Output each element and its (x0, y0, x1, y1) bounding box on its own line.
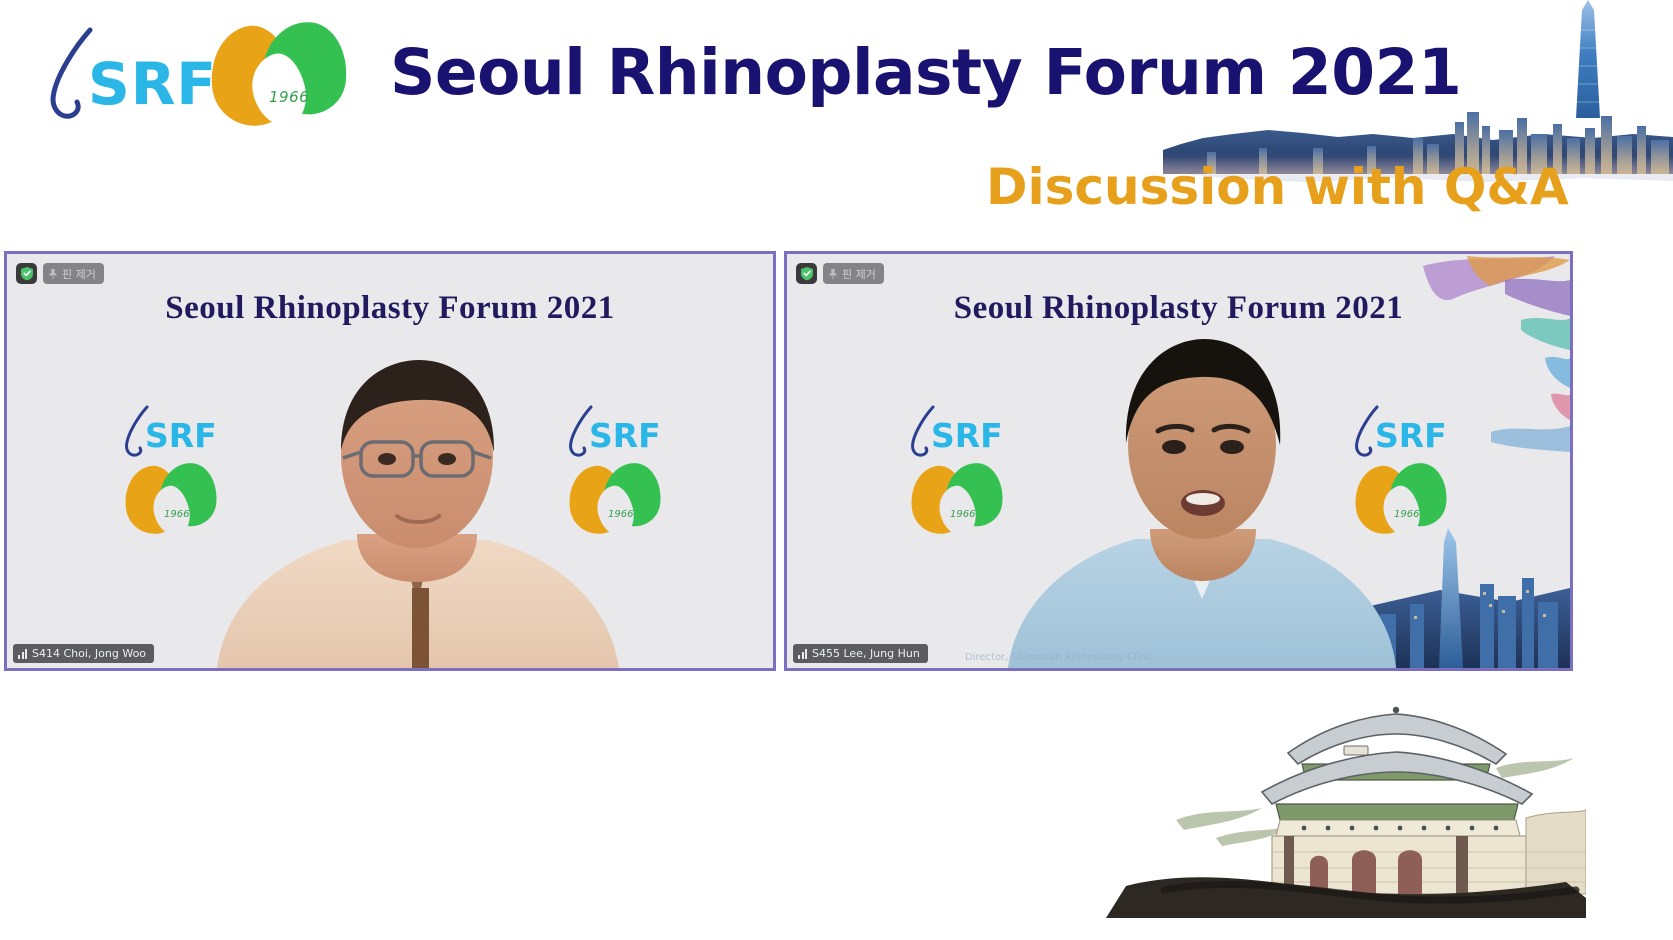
encryption-shield-icon[interactable] (796, 263, 817, 284)
virtual-background-title-1: Seoul Rhinoplasty Forum 2021 (7, 290, 773, 327)
unpin-label-1: 핀 제거 (62, 266, 96, 282)
virtual-bg-heart: 1966 (125, 462, 217, 538)
slide-header: SRF 1966 Seoul Rhinoplasty Forum 2021 (0, 0, 1673, 252)
participant-name-1: S414 Choi, Jong Woo (32, 647, 146, 660)
signal-strength-icon (18, 649, 27, 659)
tile-badges-2[interactable]: 핀 제거 (796, 263, 884, 284)
participant-name-tag-2: S455 Lee, Jung Hun (793, 644, 928, 663)
tile-badges-1[interactable]: 핀 제거 (16, 263, 104, 284)
presentation-slide: SRF 1966 Seoul Rhinoplasty Forum 2021 (0, 0, 1673, 940)
participant-name-tag-1: S414 Choi, Jong Woo (13, 644, 154, 663)
video-tile-participant-1[interactable]: Seoul Rhinoplasty Forum 2021 SRF 1966 SR… (4, 251, 776, 671)
unpin-button-2[interactable]: 핀 제거 (823, 263, 884, 284)
srf-logo-wordmark: SRF (88, 50, 217, 118)
virtual-bg-heart: 1966 (911, 462, 1003, 538)
virtual-background-title-2: Seoul Rhinoplasty Forum 2021 (787, 290, 1570, 327)
unpin-label-2: 핀 제거 (842, 266, 876, 282)
video-tile-participant-2[interactable]: Seoul Rhinoplasty Forum 2021 SRF 1966 SR… (784, 251, 1573, 671)
virtual-bg-srf-word: SRF (145, 416, 217, 455)
virtual-bg-year: 1966 (164, 509, 189, 520)
gwanghwamun-illustration (1066, 668, 1586, 918)
encryption-shield-icon[interactable] (16, 263, 37, 284)
srf-logo-year: 1966 (269, 88, 309, 106)
virtual-bg-srf-word: SRF (931, 416, 1003, 455)
pin-icon (48, 268, 58, 280)
participant-name-2: S455 Lee, Jung Hun (812, 647, 920, 660)
participant-host-note-2: Director, Shimmian Rhinoplasty Clinic (965, 652, 1154, 663)
page-title: Seoul Rhinoplasty Forum 2021 (390, 36, 1461, 109)
unpin-button-1[interactable]: 핀 제거 (43, 263, 104, 284)
participant-video-image-2 (1002, 323, 1402, 668)
signal-strength-icon (798, 649, 807, 659)
slide-subtitle: Discussion with Q&A (986, 158, 1569, 216)
srf-logo: SRF 1966 (36, 14, 346, 134)
virtual-background-2: Seoul Rhinoplasty Forum 2021 SRF 1966 SR… (787, 254, 1570, 668)
pin-icon (828, 268, 838, 280)
virtual-background-1: Seoul Rhinoplasty Forum 2021 SRF 1966 SR… (7, 254, 773, 668)
lotte-tower-icon (1561, 0, 1615, 140)
participant-video-image-1 (207, 338, 627, 668)
srf-heart-mark: 1966 (211, 20, 346, 135)
virtual-bg-year: 1966 (950, 509, 975, 520)
